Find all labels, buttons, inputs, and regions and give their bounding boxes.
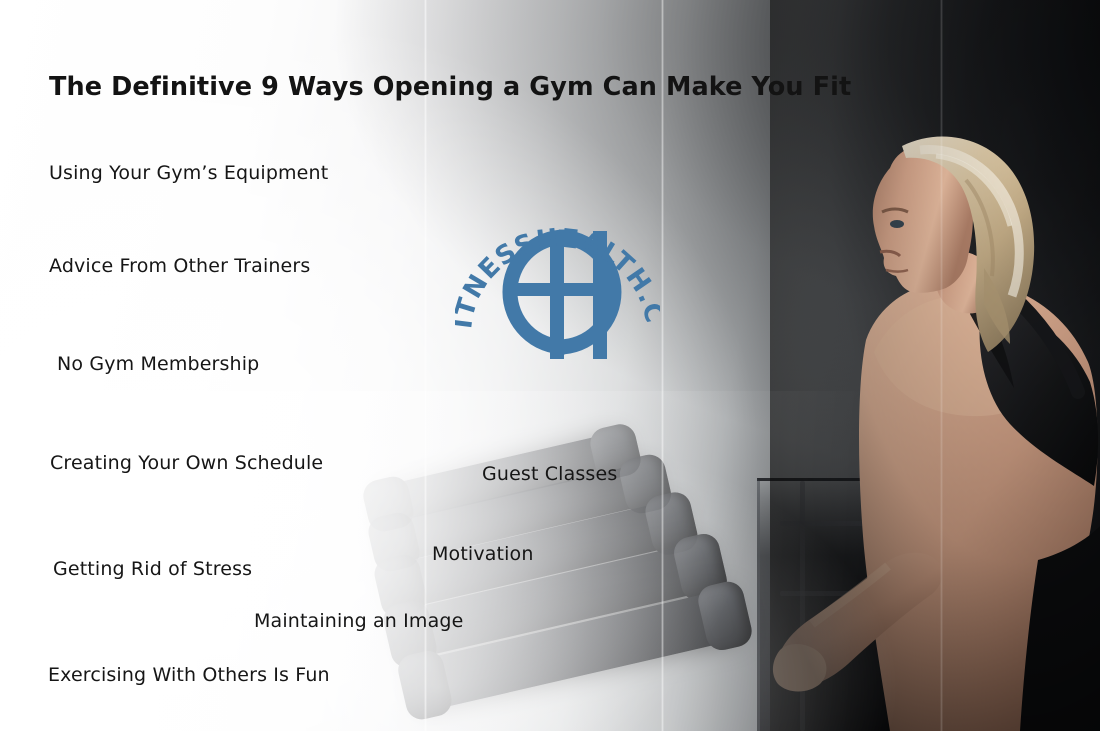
list-item-no-gym-membership: No Gym Membership <box>57 353 259 375</box>
list-item-guest-classes: Guest Classes <box>482 463 617 485</box>
list-item-getting-rid-of-stress: Getting Rid of Stress <box>53 558 252 580</box>
list-item-motivation: Motivation <box>432 543 534 565</box>
list-item-creating-your-own-schedule: Creating Your Own Schedule <box>50 452 323 474</box>
gym-infographic-poster: FITNESSHEALTH.CO The Definitive 9 Ways O… <box>0 0 1100 731</box>
page-title: The Definitive 9 Ways Opening a Gym Can … <box>49 72 851 102</box>
list-item-using-your-gyms-equipment: Using Your Gym’s Equipment <box>49 162 328 184</box>
list-item-advice-from-other-trainers: Advice From Other Trainers <box>49 255 310 277</box>
list-item-maintaining-an-image: Maintaining an Image <box>254 610 463 632</box>
list-item-exercising-with-others-is-fun: Exercising With Others Is Fun <box>48 664 330 686</box>
